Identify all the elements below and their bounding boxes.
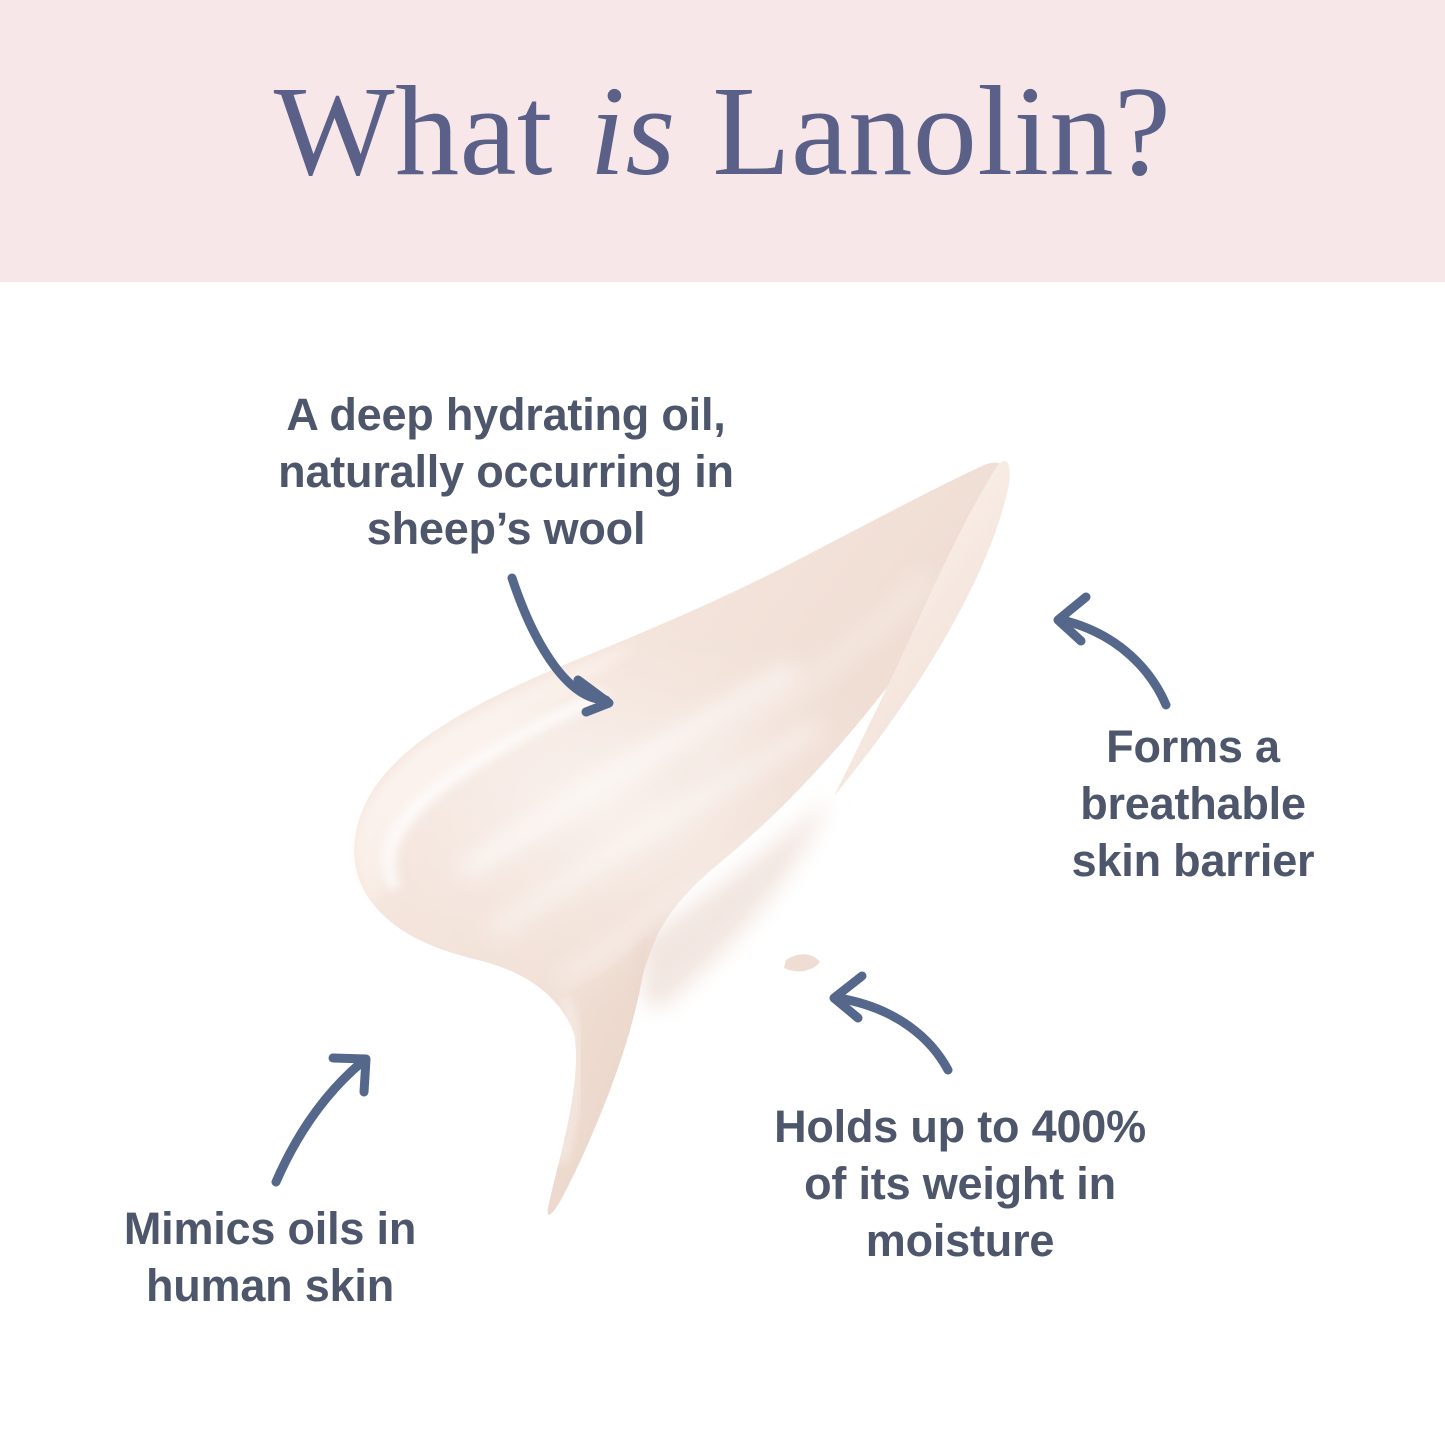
callout-deep-hydrating-oil: A deep hydrating oil, naturally occurrin… xyxy=(196,386,816,557)
infographic-page: What is Lanolin? xyxy=(0,0,1445,1445)
callout-holds-moisture: Holds up to 400% of its weight in moistu… xyxy=(700,1098,1220,1269)
callout-mimics-skin-oils: Mimics oils in human skin xyxy=(60,1200,480,1314)
callout-breathable-barrier: Forms a breathable skin barrier xyxy=(1028,718,1358,889)
